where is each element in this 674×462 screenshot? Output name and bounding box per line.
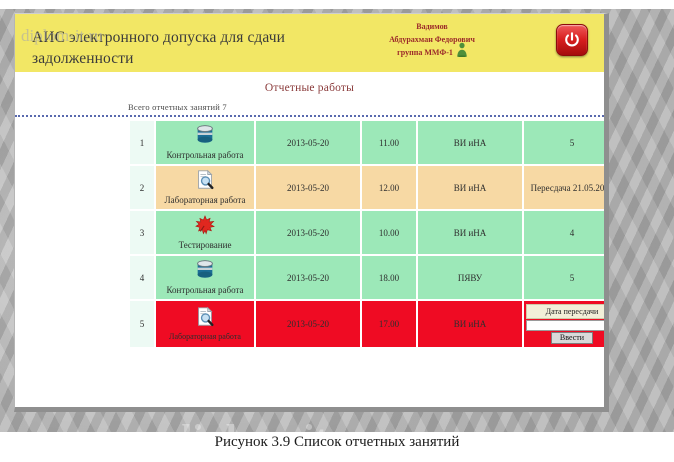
row-number: 1: [130, 121, 154, 164]
works-table: 1 Контрольная работа 2013-05-20 11.00: [128, 119, 609, 349]
database-icon: [194, 124, 216, 146]
works-table-wrapper: 1 Контрольная работа 2013-05-20 11.00: [15, 119, 604, 349]
date-cell: 2013-05-20: [256, 256, 360, 299]
subject-cell: ВИ иНА: [418, 211, 522, 254]
person-icon: [456, 42, 468, 57]
subject-cell: ВИ иНА: [418, 301, 522, 347]
page-title: Отчетные работы: [15, 72, 604, 94]
work-type-cell: Контрольная работа: [156, 121, 254, 164]
work-type-cell: Контрольная работа: [156, 256, 254, 299]
app-title: АИС электронного допуска для сдачи задол…: [32, 27, 362, 69]
user-info-block: Вадимов Абдурахман Федорович группа ММФ-…: [332, 20, 532, 59]
subject-cell: ВИ иНА: [418, 166, 522, 209]
maple-leaf-icon: [194, 214, 216, 236]
retake-date-input[interactable]: [526, 320, 609, 331]
retake-date-label: Дата пересдачи: [526, 304, 609, 319]
total-lessons-counter: Всего отчетных занятий 7: [15, 94, 604, 112]
work-type-label: Контрольная работа: [158, 149, 252, 161]
database-icon: [194, 259, 216, 281]
mark-cell: 4: [524, 211, 609, 254]
work-type-cell: Лабораторная работа: [156, 301, 254, 347]
top-white-strip: [0, 0, 674, 9]
date-cell: 2013-05-20: [256, 211, 360, 254]
document-search-icon: [194, 169, 216, 191]
time-cell: 10.00: [362, 211, 416, 254]
mark-cell: 5: [524, 121, 609, 164]
row-number: 5: [130, 301, 154, 347]
time-cell: 18.00: [362, 256, 416, 299]
date-cell: 2013-05-20: [256, 166, 360, 209]
table-row[interactable]: 2 Лабораторная работа 2013-05-20 12.00: [130, 166, 609, 209]
row-number: 2: [130, 166, 154, 209]
work-type-cell: Тестирование: [156, 211, 254, 254]
mark-cell: Дата пересдачи Ввести: [524, 301, 609, 347]
mark-cell: Пересдача 21.05.2013: [524, 166, 609, 209]
work-type-label: Лабораторная работа: [158, 331, 252, 343]
work-type-label: Тестирование: [158, 239, 252, 251]
table-row[interactable]: 1 Контрольная работа 2013-05-20 11.00: [130, 121, 609, 164]
mark-cell: 5: [524, 256, 609, 299]
work-type-label: Лабораторная работа: [158, 194, 252, 206]
row-number: 3: [130, 211, 154, 254]
application-window: АИС электронного допуска для сдачи задол…: [14, 13, 609, 412]
document-search-icon: [194, 306, 216, 328]
table-row[interactable]: 5 Лабораторная работа 2013-05-20 17.00: [130, 301, 609, 347]
dotted-divider: [15, 115, 604, 117]
table-row[interactable]: 3 Тестирование 2013-05-20 10.00 ВИ иНА 4: [130, 211, 609, 254]
subject-cell: ПЯВУ: [418, 256, 522, 299]
work-type-label: Контрольная работа: [158, 284, 252, 296]
power-icon: [564, 32, 581, 49]
user-surname: Вадимов: [332, 20, 532, 33]
user-fullname: Абдурахман Федорович: [332, 33, 532, 46]
retake-widget: Дата пересдачи Ввести: [526, 304, 609, 344]
user-group-label: группа ММФ-1: [397, 48, 453, 57]
date-cell: 2013-05-20: [256, 121, 360, 164]
subject-cell: ВИ иНА: [418, 121, 522, 164]
time-cell: 11.00: [362, 121, 416, 164]
table-row[interactable]: 4 Контрольная работа 2013-05-20 18.00: [130, 256, 609, 299]
figure-caption: Рисунок 3.9 Список отчетных занятий: [0, 434, 674, 451]
work-type-cell: Лабораторная работа: [156, 166, 254, 209]
row-number: 4: [130, 256, 154, 299]
user-group-line: группа ММФ-1: [332, 46, 532, 59]
time-cell: 12.00: [362, 166, 416, 209]
logout-button[interactable]: [556, 24, 588, 56]
submit-retake-button[interactable]: Ввести: [551, 332, 593, 344]
date-cell: 2013-05-20: [256, 301, 360, 347]
app-header: АИС электронного допуска для сдачи задол…: [15, 14, 604, 72]
time-cell: 17.00: [362, 301, 416, 347]
